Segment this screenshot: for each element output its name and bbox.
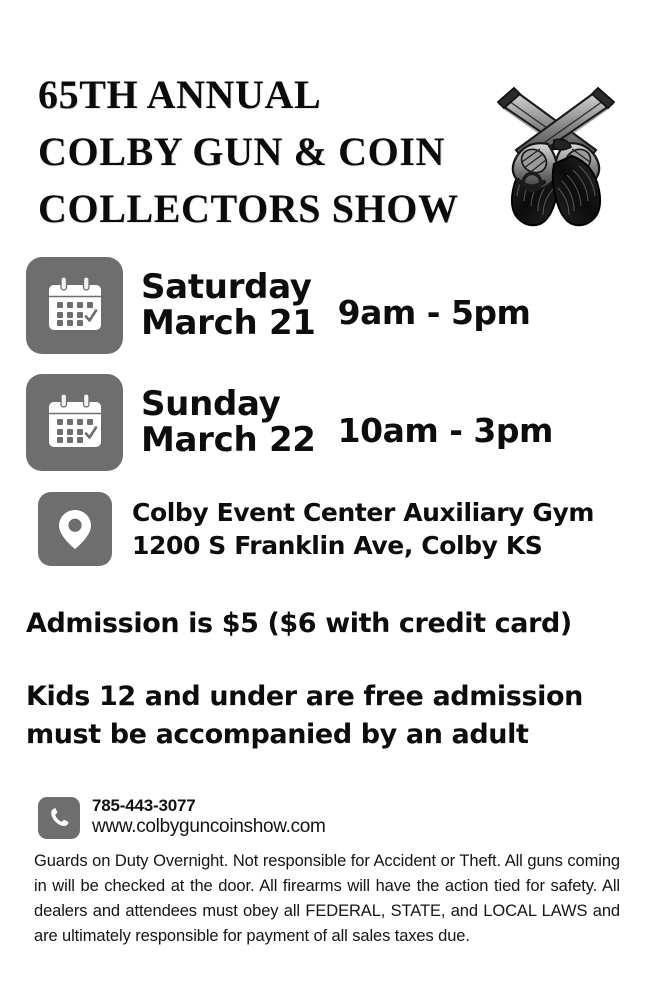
calendar-icon bbox=[26, 257, 123, 354]
schedule-row-sunday: Sunday March 22 10am - 3pm bbox=[26, 374, 553, 471]
day-name: Sunday bbox=[141, 387, 316, 422]
day-date: March 21 bbox=[141, 306, 316, 341]
phone-icon bbox=[38, 797, 80, 839]
kids-admission-note: Kids 12 and under are free admission mus… bbox=[26, 678, 586, 755]
phone-number[interactable]: 785-443-3077 bbox=[92, 796, 326, 816]
schedule-day-block: Saturday March 21 bbox=[141, 270, 316, 341]
day-date: March 22 bbox=[141, 423, 316, 458]
day-hours: 10am - 3pm bbox=[338, 395, 553, 450]
venue-name: Colby Event Center Auxiliary Gym bbox=[132, 496, 594, 529]
title-line-2: COLBY GUN & COIN bbox=[38, 123, 478, 180]
location-pin-icon bbox=[38, 492, 112, 566]
title-line-1: 65TH ANNUAL bbox=[38, 66, 478, 123]
contact-block: 785-443-3077 www.colbyguncoinshow.com bbox=[38, 796, 326, 839]
venue-row: Colby Event Center Auxiliary Gym 1200 S … bbox=[38, 492, 594, 566]
fine-print-disclaimer: Guards on Duty Overnight. Not responsibl… bbox=[34, 849, 620, 949]
schedule-day-block: Sunday March 22 bbox=[141, 387, 316, 458]
venue-text-block: Colby Event Center Auxiliary Gym 1200 S … bbox=[132, 496, 594, 562]
event-flyer: 65TH ANNUAL COLBY GUN & COIN COLLECTORS … bbox=[0, 0, 653, 1000]
schedule-row-saturday: Saturday March 21 9am - 5pm bbox=[26, 257, 530, 354]
poster-title: 65TH ANNUAL COLBY GUN & COIN COLLECTORS … bbox=[38, 66, 478, 237]
day-name: Saturday bbox=[141, 270, 316, 305]
website-url[interactable]: www.colbyguncoinshow.com bbox=[92, 816, 326, 839]
contact-text-block: 785-443-3077 www.colbyguncoinshow.com bbox=[92, 796, 326, 839]
admission-note: Admission is $5 ($6 with credit card) bbox=[26, 608, 626, 639]
title-line-3: COLLECTORS SHOW bbox=[38, 180, 478, 237]
calendar-icon bbox=[26, 374, 123, 471]
crossed-revolvers-icon bbox=[470, 58, 642, 230]
day-hours: 9am - 5pm bbox=[338, 279, 531, 332]
venue-address: 1200 S Franklin Ave, Colby KS bbox=[132, 529, 594, 562]
